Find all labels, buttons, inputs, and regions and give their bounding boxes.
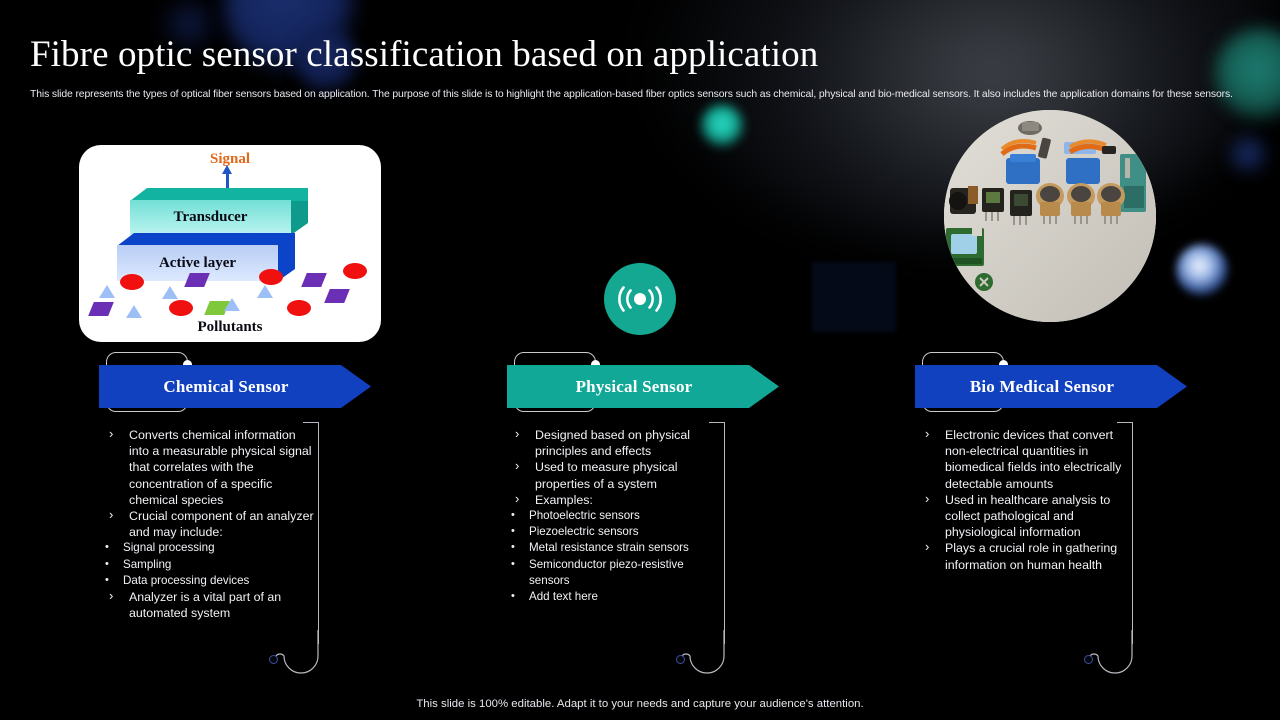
pollutant-triangle-icon — [224, 298, 240, 311]
bullet-list: Designed based on physical principles an… — [507, 427, 725, 605]
bullet-list: Converts chemical information into a mea… — [101, 427, 319, 621]
transducer-label: Transducer — [130, 200, 291, 235]
column-biomedical-sensor: Electronic devices that convert non-elec… — [917, 427, 1135, 573]
sub-bullet-list: Signal processingSamplingData processing… — [101, 540, 319, 589]
pollutant-triangle-icon — [99, 285, 115, 298]
banner-chemical-sensor[interactable]: Chemical Sensor — [99, 365, 371, 408]
column-hook-dot-physical — [676, 655, 685, 664]
pollutant-ellipse-icon — [287, 300, 311, 316]
bullet-item: Plays a crucial role in gathering inform… — [917, 540, 1135, 572]
pollutant-ellipse-icon — [259, 269, 283, 285]
banner-chemical-sensor-label: Chemical Sensor — [163, 377, 288, 397]
pollutant-rhombus-icon — [324, 289, 350, 303]
banner-physical-sensor-label: Physical Sensor — [576, 377, 693, 397]
banner-biomedical-sensor-label: Bio Medical Sensor — [970, 377, 1114, 397]
pollutant-ellipse-icon — [343, 263, 367, 279]
sub-bullet-item: Signal processing — [101, 540, 319, 556]
sub-bullet-list: Photoelectric sensorsPiezoelectric senso… — [507, 508, 725, 605]
column-physical-sensor: Designed based on physical principles an… — [507, 427, 725, 605]
background-dark-rectangle — [812, 262, 896, 332]
pollutant-triangle-icon — [257, 285, 273, 298]
bullet-item: Converts chemical information into a mea… — [101, 427, 319, 508]
banner-physical-sensor[interactable]: Physical Sensor — [507, 365, 779, 408]
banner-biomedical-sensor[interactable]: Bio Medical Sensor — [915, 365, 1187, 408]
sub-bullet-item: Add text here — [507, 589, 725, 605]
sub-bullet-item: Photoelectric sensors — [507, 508, 725, 524]
background-bubble-teal-small — [700, 104, 744, 148]
bullet-item: Examples: — [507, 492, 725, 508]
sensor-components-photo — [944, 110, 1156, 322]
pollutant-triangle-icon — [162, 286, 178, 299]
chemical-sensor-illustration-card: Signal Transducer Active layer Pollutant… — [79, 145, 381, 342]
pollutant-rhombus-icon — [88, 302, 114, 316]
column-hook-dot-chemical — [269, 655, 278, 664]
background-bubble-blue-sphere — [1176, 244, 1228, 296]
pollutant-triangle-icon — [126, 305, 142, 318]
bullet-item: Electronic devices that convert non-elec… — [917, 427, 1135, 492]
page-title: Fibre optic sensor classification based … — [30, 33, 818, 76]
pollutants-label: Pollutants — [79, 319, 381, 336]
pollutant-ellipse-icon — [169, 300, 193, 316]
footer-note: This slide is 100% editable. Adapt it to… — [0, 698, 1280, 710]
bullet-item: Crucial component of an analyzer and may… — [101, 508, 319, 540]
column-hook-dot-biomedical — [1084, 655, 1093, 664]
bullet-list: Electronic devices that convert non-elec… — [917, 427, 1135, 573]
sub-bullet-item: Piezoelectric sensors — [507, 524, 725, 540]
sub-bullet-item: Semiconductor piezo-resistive sensors — [507, 557, 725, 589]
sub-bullet-item: Metal resistance strain sensors — [507, 540, 725, 556]
pollutant-rhombus-icon — [301, 273, 327, 287]
bullet-item: Analyzer is a vital part of an automated… — [101, 589, 319, 621]
sub-bullet-item: Data processing devices — [101, 573, 319, 589]
bullet-item: Designed based on physical principles an… — [507, 427, 725, 459]
bullet-item: Used to measure physical properties of a… — [507, 459, 725, 491]
sub-bullet-item: Sampling — [101, 557, 319, 573]
column-chemical-sensor: Converts chemical information into a mea… — [101, 427, 319, 621]
pollutant-ellipse-icon — [120, 274, 144, 290]
pollutant-rhombus-icon — [184, 273, 210, 287]
background-bubble-navy-right — [1226, 132, 1270, 176]
page-subtitle: This slide represents the types of optic… — [30, 87, 1235, 102]
bullet-item: Used in healthcare analysis to collect p… — [917, 492, 1135, 541]
signal-broadcast-icon — [604, 263, 676, 335]
